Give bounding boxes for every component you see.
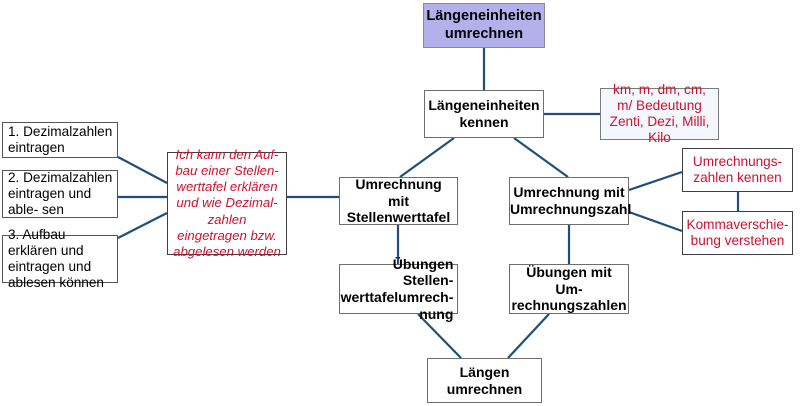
- connector-umrechnung-umrechnungszahl-to-kommaverschiebung: [629, 212, 682, 231]
- node-uebungen-stellenwerttafelumrechnung[interactable]: Übungen Stellen- werttafelumrech- nung: [339, 264, 458, 314]
- node-label: 3. Aufbau erklären und eintragen und abl…: [3, 227, 117, 291]
- connector-stufe-3-to-ich-kann: [118, 213, 167, 238]
- connector-uebungen-umrechnungszahlen-to-laengen-umrechnen: [508, 314, 549, 358]
- node-laengeneinheiten-kennen[interactable]: Längeneinheiten kennen: [424, 90, 544, 138]
- node-label: Ich kann den Auf- bau einer Stellen- wer…: [168, 147, 286, 260]
- connector-umrechnung-umrechnungszahl-to-umrechnungszahlen-kennen: [629, 172, 682, 190]
- node-umrechnung-stellenwerttafel[interactable]: Umrechnung mit Stellenwerttafel: [339, 177, 458, 225]
- node-uebungen-umrechnungszahlen[interactable]: Übungen mit Um- rechnungszahlen: [509, 264, 629, 314]
- node-stufe-3-aufbau-erklaeren[interactable]: 3. Aufbau erklären und eintragen und abl…: [2, 235, 118, 283]
- node-label: Umrechnungs- zahlen kennen: [683, 154, 792, 186]
- node-stufe-1-dezimalzahlen-eintragen[interactable]: 1. Dezimalzahlen eintragen: [2, 122, 118, 158]
- node-label: 1. Dezimalzahlen eintragen: [3, 124, 117, 156]
- node-laengeneinheiten-umrechnen[interactable]: Längeneinheiten umrechnen: [423, 3, 545, 48]
- node-einheiten-liste[interactable]: km, m, dm, cm, m/ Bedeutung Zenti, Dezi,…: [600, 88, 719, 140]
- node-label: Umrechnung mit Umrechnungszahl: [507, 184, 631, 217]
- node-kommaverschiebung-verstehen[interactable]: Kommaverschie- bung verstehen: [682, 211, 793, 255]
- node-label: Längeneinheiten kennen: [425, 97, 543, 130]
- node-umrechnungszahlen-kennen[interactable]: Umrechnungs- zahlen kennen: [682, 148, 793, 192]
- node-laengen-umrechnen[interactable]: Längen umrechnen: [427, 358, 542, 403]
- node-label: Übungen Stellen- werttafelumrech- nung: [338, 256, 460, 322]
- connector-kennen-to-umrechnung-umrechnungszahl: [514, 138, 568, 177]
- connector-kennen-to-umrechnung-stellenwerttafel: [400, 138, 454, 177]
- diagram-canvas: Längeneinheiten umrechnen Längeneinheite…: [0, 0, 800, 406]
- node-ich-kann-aussage[interactable]: Ich kann den Auf- bau einer Stellen- wer…: [167, 152, 287, 255]
- node-label: Umrechnung mit Stellenwerttafel: [340, 176, 457, 226]
- node-stufe-2-eintragen-und-ablesen[interactable]: 2. Dezimalzahlen eintragen und able- sen: [2, 170, 118, 218]
- node-label: Längen umrechnen: [428, 364, 541, 397]
- node-label: 2. Dezimalzahlen eintragen und able- sen: [3, 170, 117, 218]
- node-label: Übungen mit Um- rechnungszahlen: [508, 264, 629, 314]
- node-label: Kommaverschie- bung verstehen: [683, 217, 792, 249]
- node-label: km, m, dm, cm, m/ Bedeutung Zenti, Dezi,…: [601, 82, 718, 146]
- node-umrechnung-umrechnungszahl[interactable]: Umrechnung mit Umrechnungszahl: [509, 177, 629, 225]
- node-label: Längeneinheiten umrechnen: [423, 8, 544, 42]
- connector-stufe-1-to-ich-kann: [118, 157, 167, 183]
